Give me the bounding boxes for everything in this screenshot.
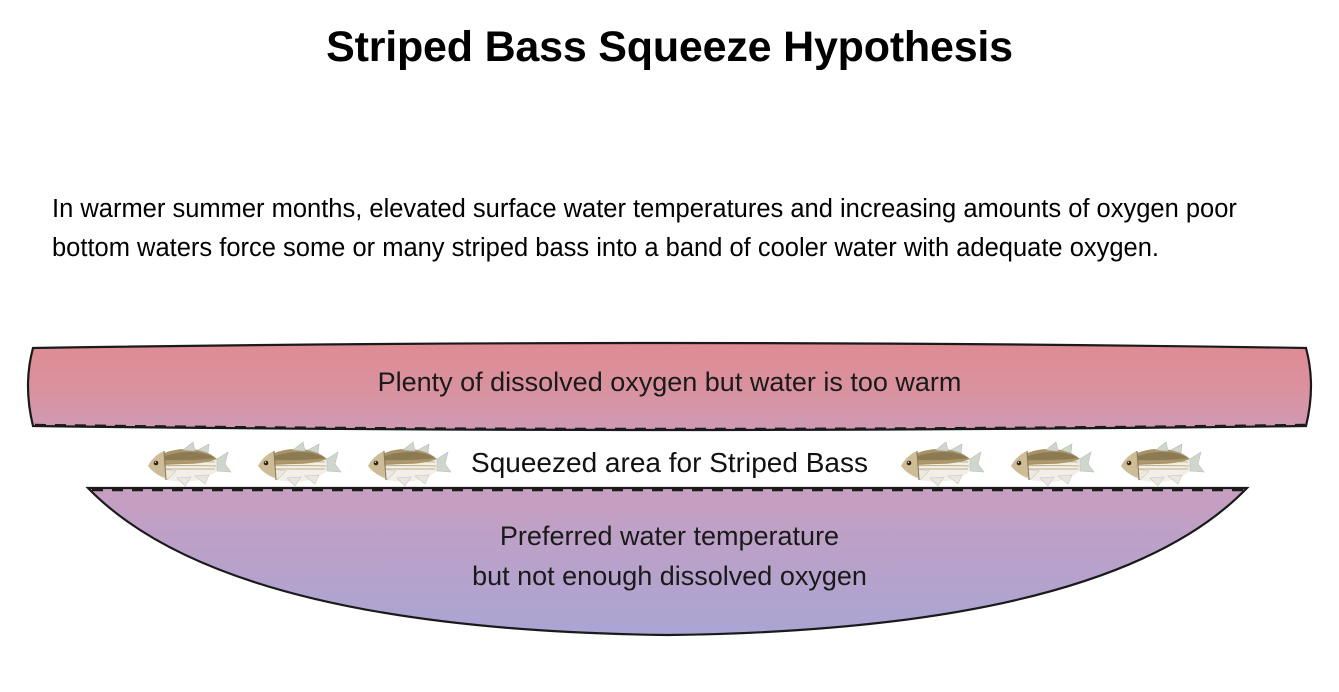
fish-group-right: [878, 438, 1208, 488]
top-oxygen-band: [28, 343, 1311, 430]
striped-bass-fish-icon: [884, 438, 988, 488]
page-title: Striped Bass Squeeze Hypothesis: [0, 22, 1339, 72]
striped-bass-fish-icon: [994, 438, 1098, 488]
striped-bass-fish-icon: [1104, 438, 1208, 488]
top-band-fill: [28, 343, 1311, 430]
fish-group-left: [131, 438, 461, 488]
bottom-band-fill: [88, 488, 1247, 635]
intro-paragraph: In warmer summer months, elevated surfac…: [52, 190, 1294, 268]
striped-bass-fish-icon: [241, 438, 345, 488]
bottom-hypoxic-band: [88, 488, 1247, 635]
striped-bass-squeeze-diagram: Plenty of dissolved oxygen but water is …: [0, 330, 1339, 660]
squeezed-area-row: Squeezed area for Striped Bass: [0, 435, 1339, 491]
diagram-shapes: [0, 330, 1339, 660]
striped-bass-fish-icon: [351, 438, 455, 488]
striped-bass-fish-icon: [131, 438, 235, 488]
squeezed-area-label: Squeezed area for Striped Bass: [461, 446, 878, 480]
